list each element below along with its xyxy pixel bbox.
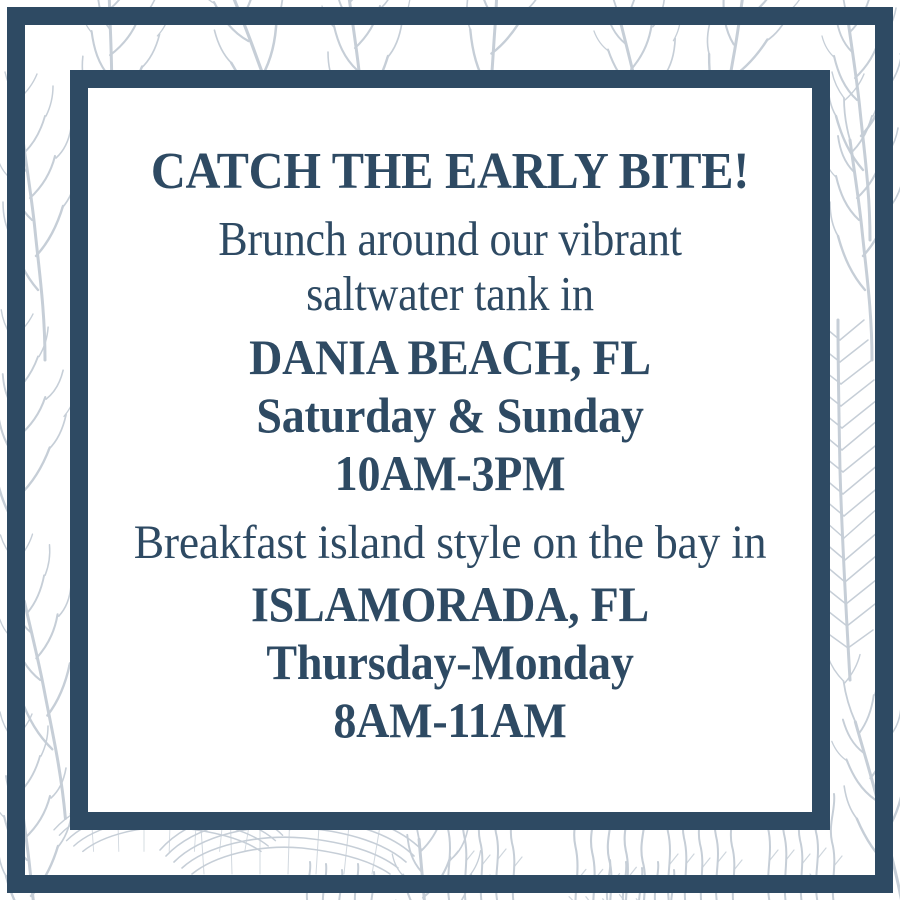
location-2-city: ISLAMORADA, FL xyxy=(122,575,777,633)
location-1-description-line-2: saltwater tank in xyxy=(130,267,771,322)
poster-canvas: CATCH THE EARLY BITE! Brunch around our … xyxy=(0,0,900,900)
location-1-hours: 10AM-3PM xyxy=(122,444,777,502)
location-2-days: Thursday-Monday xyxy=(122,633,777,691)
location-1-city: DANIA BEACH, FL xyxy=(122,328,777,386)
location-1-days: Saturday & Sunday xyxy=(122,386,777,444)
poster-headline: CATCH THE EARLY BITE! xyxy=(119,145,781,198)
location-2-hours: 8AM-11AM xyxy=(122,691,777,749)
location-2-description-line-1: Breakfast island style on the bay in xyxy=(112,516,788,570)
poster-content: CATCH THE EARLY BITE! Brunch around our … xyxy=(88,88,812,812)
inner-border-frame: CATCH THE EARLY BITE! Brunch around our … xyxy=(70,70,830,830)
location-1-description-line-1: Brunch around our vibrant xyxy=(130,212,771,267)
